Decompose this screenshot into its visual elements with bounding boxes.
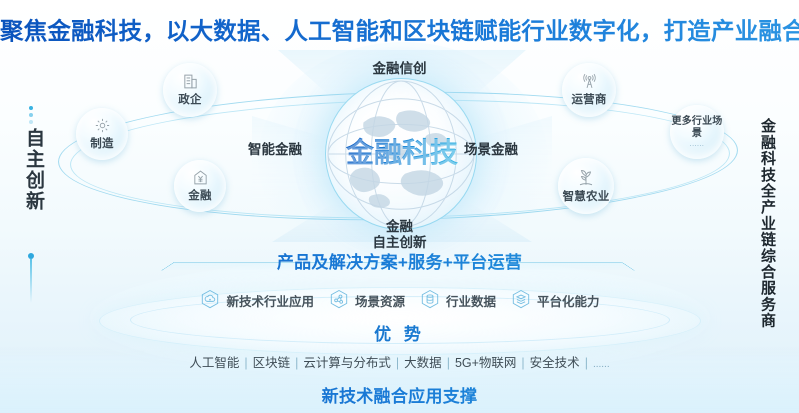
advantage-label: 优 势 xyxy=(0,320,799,345)
bubble-label: 运营商 xyxy=(571,91,606,107)
tech-list-ellipsis: ...... xyxy=(593,359,610,370)
globe-label-top: 金融信创 xyxy=(0,57,799,77)
tech-list-item: 区块链 xyxy=(253,356,291,370)
bubble-label: 制造 xyxy=(90,135,113,151)
capability-label: 新技术行业应用 xyxy=(226,291,314,310)
industry-bubble-jinrong[interactable]: 金融 xyxy=(174,160,226,212)
tech-list-separator: | xyxy=(244,356,247,370)
bubble-label: 更多行业场景 xyxy=(670,116,724,140)
page-title: 聚焦金融科技，以大数据、人工智能和区块链赋能行业数字化，打造产业融合新生态 xyxy=(0,12,799,46)
globe-center-label: 金融科技 xyxy=(326,131,477,171)
tech-list-item: 大数据 xyxy=(404,356,442,370)
tech-list-separator: | xyxy=(396,356,399,370)
industry-bubble-nongye[interactable]: 智慧农业 xyxy=(558,158,614,214)
bank-yen-icon xyxy=(192,169,209,186)
tech-list-separator: | xyxy=(521,356,524,370)
globe-sphere: 金融科技 xyxy=(325,78,477,230)
tech-list: 人工智能|区块链|云计算与分布式|大数据|5G+物联网|安全技术|...... xyxy=(0,352,799,371)
globe-label-bottom: 金融 自主创新 xyxy=(0,219,799,251)
capability-item-platform[interactable]: 平台化能力 xyxy=(510,289,600,311)
left-dot-accent xyxy=(29,106,33,124)
central-globe: 金融科技 xyxy=(325,78,477,230)
mid-headline: 产品及解决方案+服务+平台运营 xyxy=(0,248,799,273)
industry-bubble-more[interactable]: 更多行业场景 ...... xyxy=(670,105,724,159)
globe-label-left: 智能金融 xyxy=(248,138,302,158)
capability-item-industry-data[interactable]: 行业数据 xyxy=(419,289,496,311)
capability-label: 场景资源 xyxy=(355,291,405,310)
layers-hex-icon xyxy=(510,289,532,311)
bubble-label: 金融 xyxy=(188,187,211,203)
molecule-hex-icon xyxy=(328,289,350,311)
tech-list-separator: | xyxy=(447,356,450,370)
globe-label-bottom-line1: 金融 xyxy=(0,219,799,235)
agriculture-icon xyxy=(577,169,595,187)
database-hex-icon xyxy=(419,289,441,311)
bubble-ellipsis: ...... xyxy=(690,141,705,148)
capability-row: 新技术行业应用 场景资源 行业数据 xyxy=(0,289,799,311)
globe-label-right: 场景金融 xyxy=(464,138,518,158)
gear-icon xyxy=(94,117,111,134)
tech-list-separator: | xyxy=(295,356,298,370)
capability-item-scene-resource[interactable]: 场景资源 xyxy=(328,289,405,311)
tech-list-item: 人工智能 xyxy=(189,356,239,370)
capability-label: 平台化能力 xyxy=(537,291,600,310)
infographic-canvas: 聚焦金融科技，以大数据、人工智能和区块链赋能行业数字化，打造产业融合新生态 xyxy=(0,0,799,413)
industry-bubble-zhengqi[interactable]: 政企 xyxy=(163,63,217,117)
building-icon xyxy=(182,73,199,90)
tech-list-item: 5G+物联网 xyxy=(455,356,516,370)
tech-list-separator: | xyxy=(585,356,588,370)
capability-item-new-tech[interactable]: 新技术行业应用 xyxy=(199,289,314,311)
industry-bubble-yunyingshang[interactable]: 运营商 xyxy=(562,63,616,117)
tech-list-item: 安全技术 xyxy=(530,356,580,370)
capability-label: 行业数据 xyxy=(446,291,496,310)
tech-list-item: 云计算与分布式 xyxy=(303,356,391,370)
industry-bubble-zhizao[interactable]: 制造 xyxy=(76,108,128,160)
bubble-label: 政企 xyxy=(178,91,201,107)
bubble-label: 智慧农业 xyxy=(563,188,610,204)
left-vertical-text: 自主创新 xyxy=(20,128,47,212)
signal-tower-icon xyxy=(581,73,598,90)
cloud-hex-icon xyxy=(199,289,221,311)
bottom-headline: 新技术融合应用支撑 xyxy=(0,382,799,407)
